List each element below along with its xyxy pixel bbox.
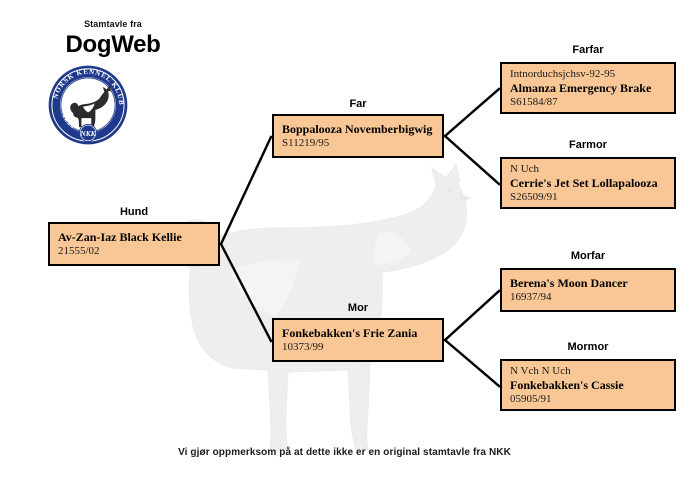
header-title: DogWeb: [38, 31, 188, 59]
header-subtitle: Stamtavle fra: [38, 18, 188, 30]
dog-titles: Intnorduchsjchsv-92-95: [510, 68, 667, 81]
label-mormor: Mormor: [500, 341, 676, 353]
dog-reg-number: 16937/94: [510, 291, 667, 304]
dog-reg-number: 21555/02: [58, 245, 211, 258]
pedigree-box-mormor[interactable]: N Vch N Uch Fonkebakken's Cassie 05905/9…: [500, 359, 676, 411]
page-header: Stamtavle fra DogWeb: [38, 18, 188, 59]
label-far: Far: [272, 98, 444, 110]
svg-text:NKK: NKK: [79, 129, 96, 138]
pedigree-box-mor[interactable]: Fonkebakken's Frie Zania 10373/99: [272, 318, 444, 362]
dog-name: Almanza Emergency Brake: [510, 81, 667, 96]
dog-titles: N Uch: [510, 163, 667, 176]
dog-reg-number: S11219/95: [282, 137, 435, 150]
label-farmor: Farmor: [500, 139, 676, 151]
dog-reg-number: S61584/87: [510, 96, 667, 109]
pedigree-box-hund[interactable]: Av-Zan-Iaz Black Kellie 21555/02: [48, 222, 220, 266]
dog-titles: N Vch N Uch: [510, 365, 667, 378]
pedigree-box-far[interactable]: Boppalooza Novemberbigwig S11219/95: [272, 114, 444, 158]
dog-reg-number: 05905/91: [510, 393, 667, 406]
pedigree-page: Stamtavle fra DogWeb NORSK KENNEL KLUB 1…: [0, 0, 689, 485]
dog-name: Fonkebakken's Frie Zania: [282, 326, 435, 341]
disclaimer-text: Vi gjør oppmerksom på at dette ikke er e…: [0, 447, 689, 458]
dog-reg-number: S26509/91: [510, 191, 667, 204]
dog-name: Berena's Moon Dancer: [510, 276, 667, 291]
pedigree-box-farfar[interactable]: Intnorduchsjchsv-92-95 Almanza Emergency…: [500, 62, 676, 114]
nkk-seal-icon: NORSK KENNEL KLUB 1898 NKK: [47, 64, 129, 146]
label-hund: Hund: [48, 206, 220, 218]
dog-name: Fonkebakken's Cassie: [510, 378, 667, 393]
dog-watermark-image: [120, 120, 500, 480]
pedigree-box-farmor[interactable]: N Uch Cerrie's Jet Set Lollapalooza S265…: [500, 157, 676, 209]
dog-reg-number: 10373/99: [282, 341, 435, 354]
label-morfar: Morfar: [500, 250, 676, 262]
label-farfar: Farfar: [500, 44, 676, 56]
dog-name: Boppalooza Novemberbigwig: [282, 122, 435, 137]
label-mor: Mor: [272, 302, 444, 314]
dog-name: Cerrie's Jet Set Lollapalooza: [510, 176, 667, 191]
pedigree-box-morfar[interactable]: Berena's Moon Dancer 16937/94: [500, 268, 676, 312]
dog-name: Av-Zan-Iaz Black Kellie: [58, 230, 211, 245]
